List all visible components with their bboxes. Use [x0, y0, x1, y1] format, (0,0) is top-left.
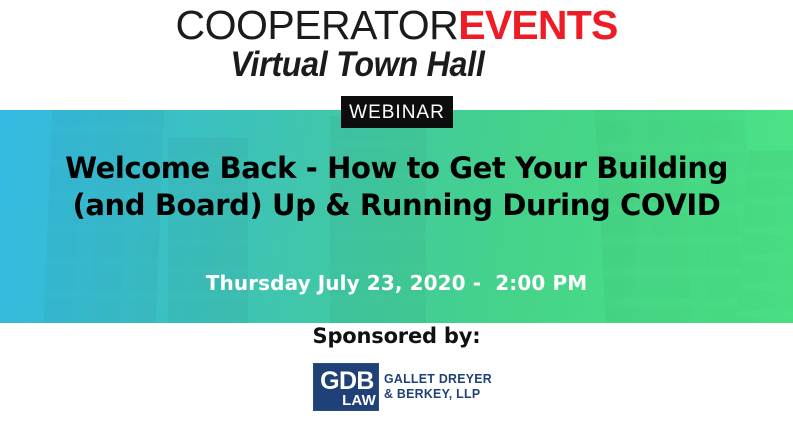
- sponsored-by-label: Sponsored by:: [0, 326, 793, 347]
- sponsor-logo-practice: LAW: [314, 393, 376, 408]
- brand-header: COOPERATOREVENTS Virtual Town Hall: [0, 0, 793, 110]
- sponsor-logo-initials: GDB: [314, 369, 380, 394]
- webinar-badge-label: WEBINAR: [349, 103, 445, 122]
- sponsor-firm-line-2: & BERKEY, LLP: [384, 387, 483, 402]
- brand-subtitle-row: Virtual Town Hall: [0, 47, 793, 82]
- sponsor-logo[interactable]: GDB LAW GALLET DREYER & BERKEY, LLP: [313, 363, 488, 411]
- webinar-promo-card: COOPERATOREVENTS Virtual Town Hall WEBIN…: [0, 0, 793, 426]
- sponsor-section: Sponsored by: GDB LAW GALLET DREYER & BE…: [0, 323, 793, 426]
- event-datetime: Thursday July 23, 2020 - 2:00 PM: [60, 273, 733, 293]
- brand-wordmark: COOPERATOREVENTS: [0, 5, 793, 46]
- sponsor-logo-mark: GDB LAW: [313, 363, 379, 411]
- webinar-badge: WEBINAR: [341, 96, 453, 128]
- brand-subtitle: Virtual Town Hall: [231, 47, 562, 82]
- sponsor-firm-line-1: GALLET DREYER: [384, 372, 483, 387]
- sponsor-firm-name: GALLET DREYER & BERKEY, LLP: [384, 372, 488, 401]
- brand-name-primary: COOPERATOR: [175, 2, 458, 48]
- brand-name-secondary: EVENTS: [458, 2, 617, 48]
- event-title: Welcome Back - How to Get Your Building …: [60, 150, 733, 224]
- hero-content: Welcome Back - How to Get Your Building …: [0, 110, 793, 323]
